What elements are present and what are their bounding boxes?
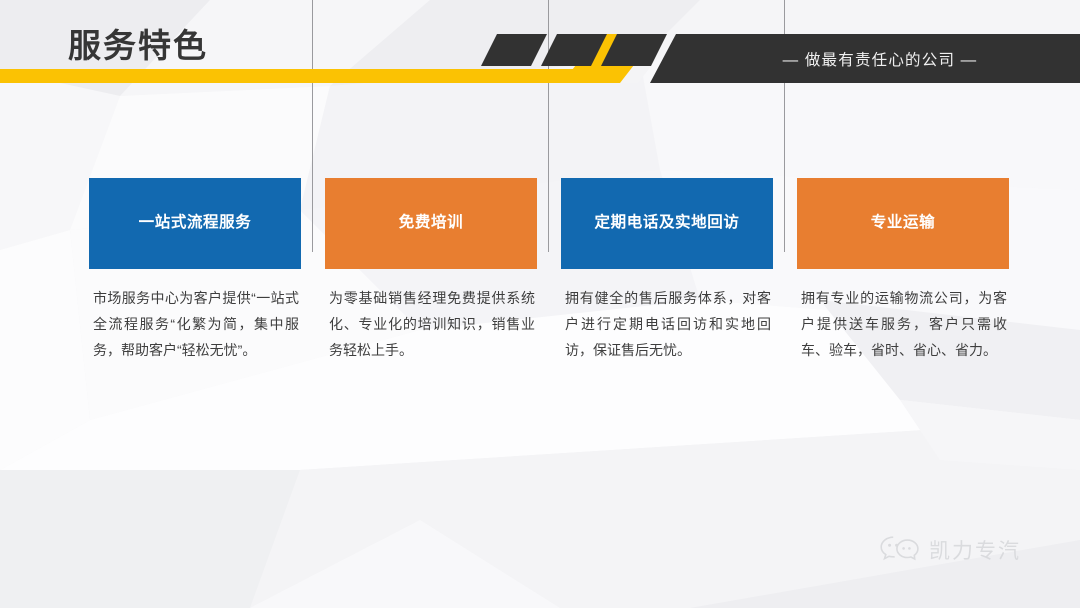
feature-card-list: 一站式流程服务 市场服务中心为客户提供“一站式全流程服务“化繁为简，集中服务，帮… (0, 178, 1080, 438)
feature-card-title: 一站式流程服务 (139, 214, 252, 233)
feature-card-body: 市场服务中心为客户提供“一站式全流程服务“化繁为简，集中服务，帮助客户“轻松无忧… (89, 285, 301, 363)
feature-card-body: 为零基础销售经理免费提供系统化、专业化的培训知识，销售业务轻松上手。 (325, 285, 537, 363)
feature-card-header: 定期电话及实地回访 (561, 178, 773, 269)
feature-card-title: 免费培训 (399, 214, 463, 233)
feature-card[interactable]: 定期电话及实地回访 拥有健全的售后服务体系，对客户进行定期电话回访和实地回访，保… (561, 178, 773, 363)
feature-card-body: 拥有健全的售后服务体系，对客户进行定期电话回访和实地回访，保证售后无忧。 (561, 285, 773, 363)
feature-card-header: 一站式流程服务 (89, 178, 301, 269)
wechat-icon (878, 534, 920, 566)
footer-watermark: 凯力专汽 (878, 534, 1021, 566)
page-title: 服务特色 (68, 29, 208, 62)
slide-header: 服务特色 — 做最有责任心的公司 — (0, 0, 1080, 95)
feature-card-body: 拥有专业的运输物流公司，为客户提供送车服务，客户只需收车、验车，省时、省心、省力… (797, 285, 1009, 363)
slide-canvas: 服务特色 — 做最有责任心的公司 — 一站式流程服务 市场服务中心为客户提供“一… (0, 0, 1080, 608)
feature-card[interactable]: 专业运输 拥有专业的运输物流公司，为客户提供送车服务，客户只需收车、验车，省时、… (797, 178, 1009, 363)
feature-card[interactable]: 免费培训 为零基础销售经理免费提供系统化、专业化的培训知识，销售业务轻松上手。 (325, 178, 537, 363)
feature-card-title: 专业运输 (871, 214, 935, 233)
watermark-text: 凯力专汽 (929, 535, 1021, 565)
feature-card-header: 专业运输 (797, 178, 1009, 269)
feature-card-header: 免费培训 (325, 178, 537, 269)
feature-card[interactable]: 一站式流程服务 市场服务中心为客户提供“一站式全流程服务“化繁为简，集中服务，帮… (89, 178, 301, 363)
header-slogan: — 做最有责任心的公司 — (700, 48, 1060, 70)
feature-card-title: 定期电话及实地回访 (595, 214, 740, 233)
